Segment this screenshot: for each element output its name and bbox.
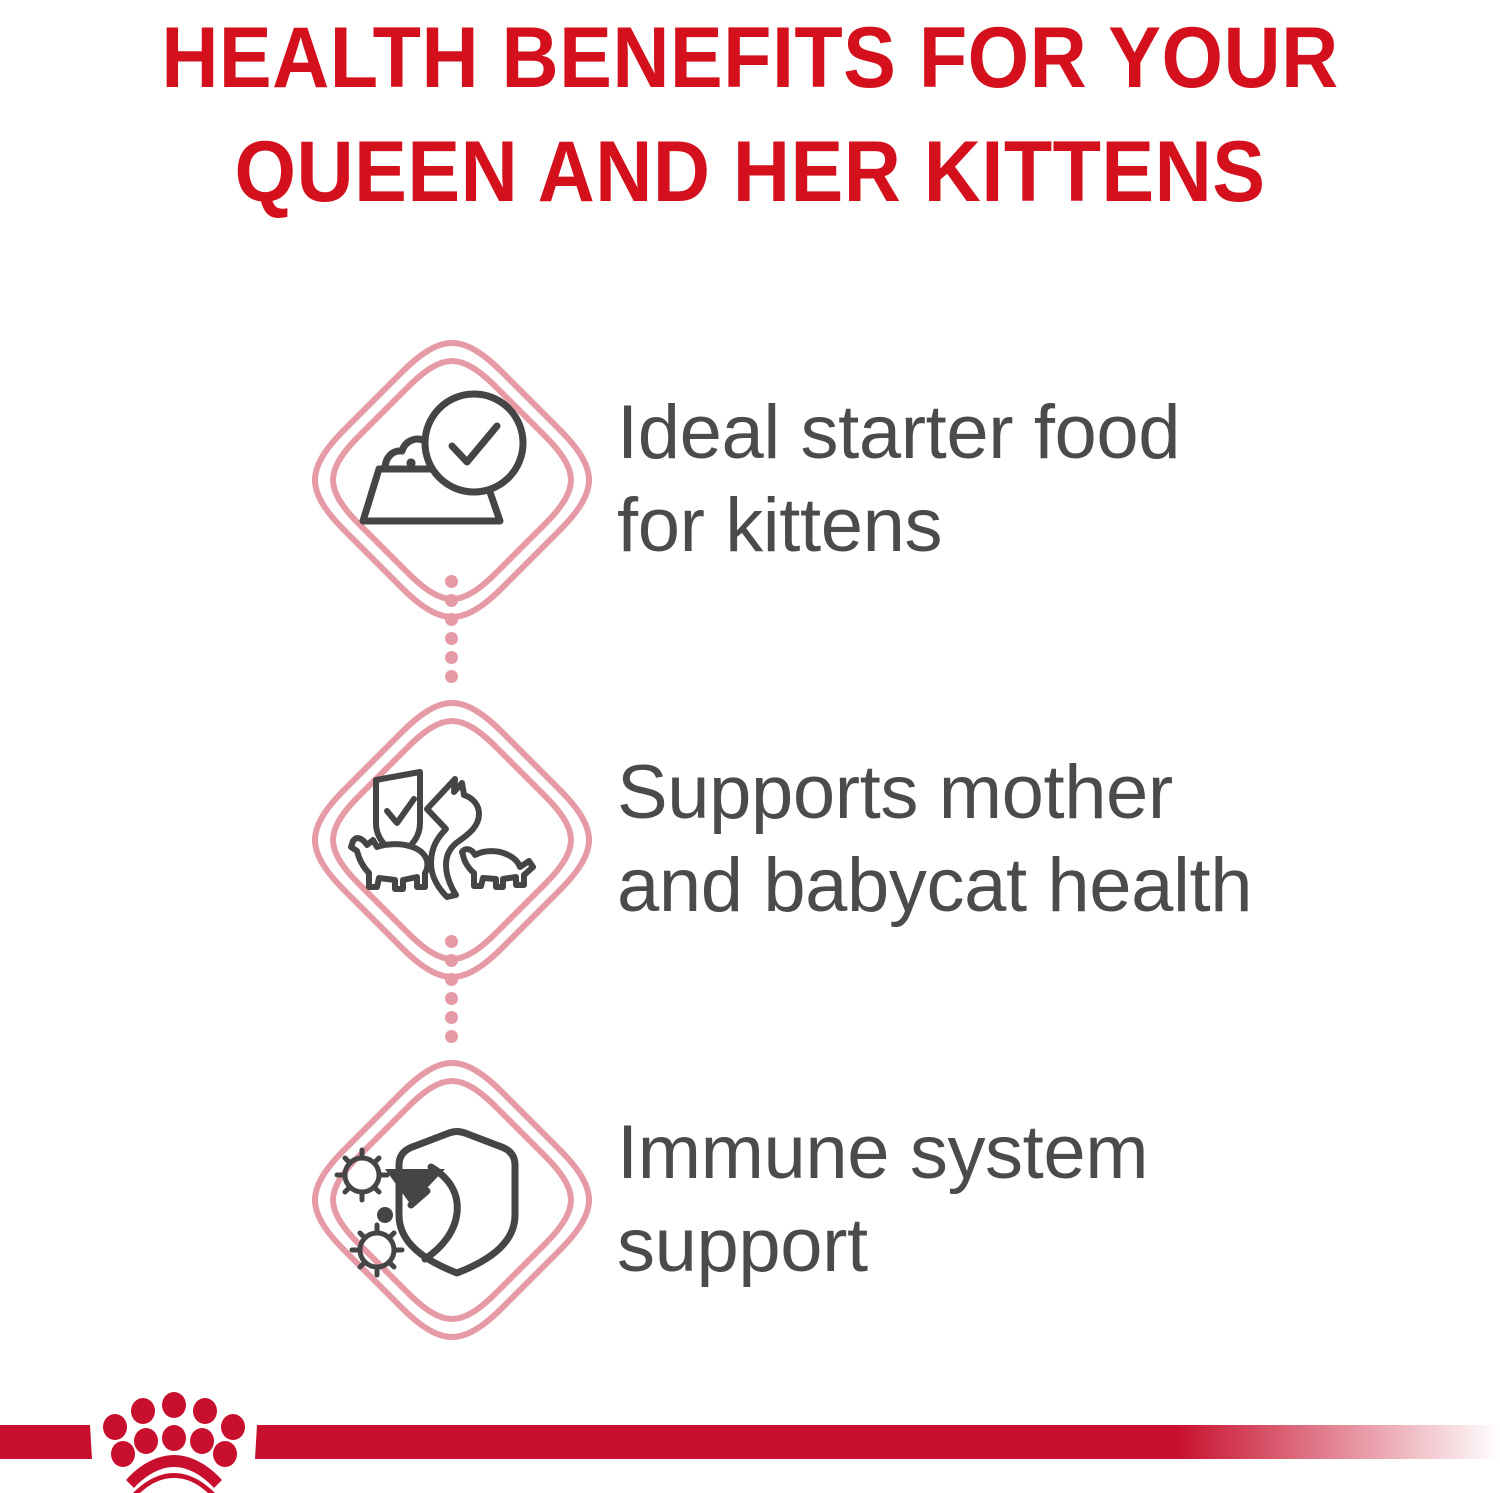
shield-mother-cat-kittens-icon xyxy=(307,695,597,985)
royal-canin-crown-logo xyxy=(103,1392,245,1493)
benefits-list: Ideal starter food for kittens xyxy=(0,300,1500,1380)
food-bowl-check-icon xyxy=(307,335,597,625)
benefit-row: Immune system support xyxy=(0,1020,1500,1380)
benefit-label: Ideal starter food for kittens xyxy=(617,387,1180,572)
shield-germs-immune-icon xyxy=(307,1055,597,1345)
benefit-row: Ideal starter food for kittens xyxy=(0,300,1500,660)
footer-bar-right xyxy=(255,1425,1500,1459)
footer xyxy=(0,1380,1500,1493)
benefit-label: Supports mother and babycat health xyxy=(617,747,1252,932)
page-title: HEALTH BENEFITS FOR YOUR QUEEN AND HER K… xyxy=(60,0,1440,229)
benefit-row: Supports mother and babycat health xyxy=(0,660,1500,1020)
footer-bar-left xyxy=(0,1425,92,1459)
benefit-label: Immune system support xyxy=(617,1107,1148,1292)
